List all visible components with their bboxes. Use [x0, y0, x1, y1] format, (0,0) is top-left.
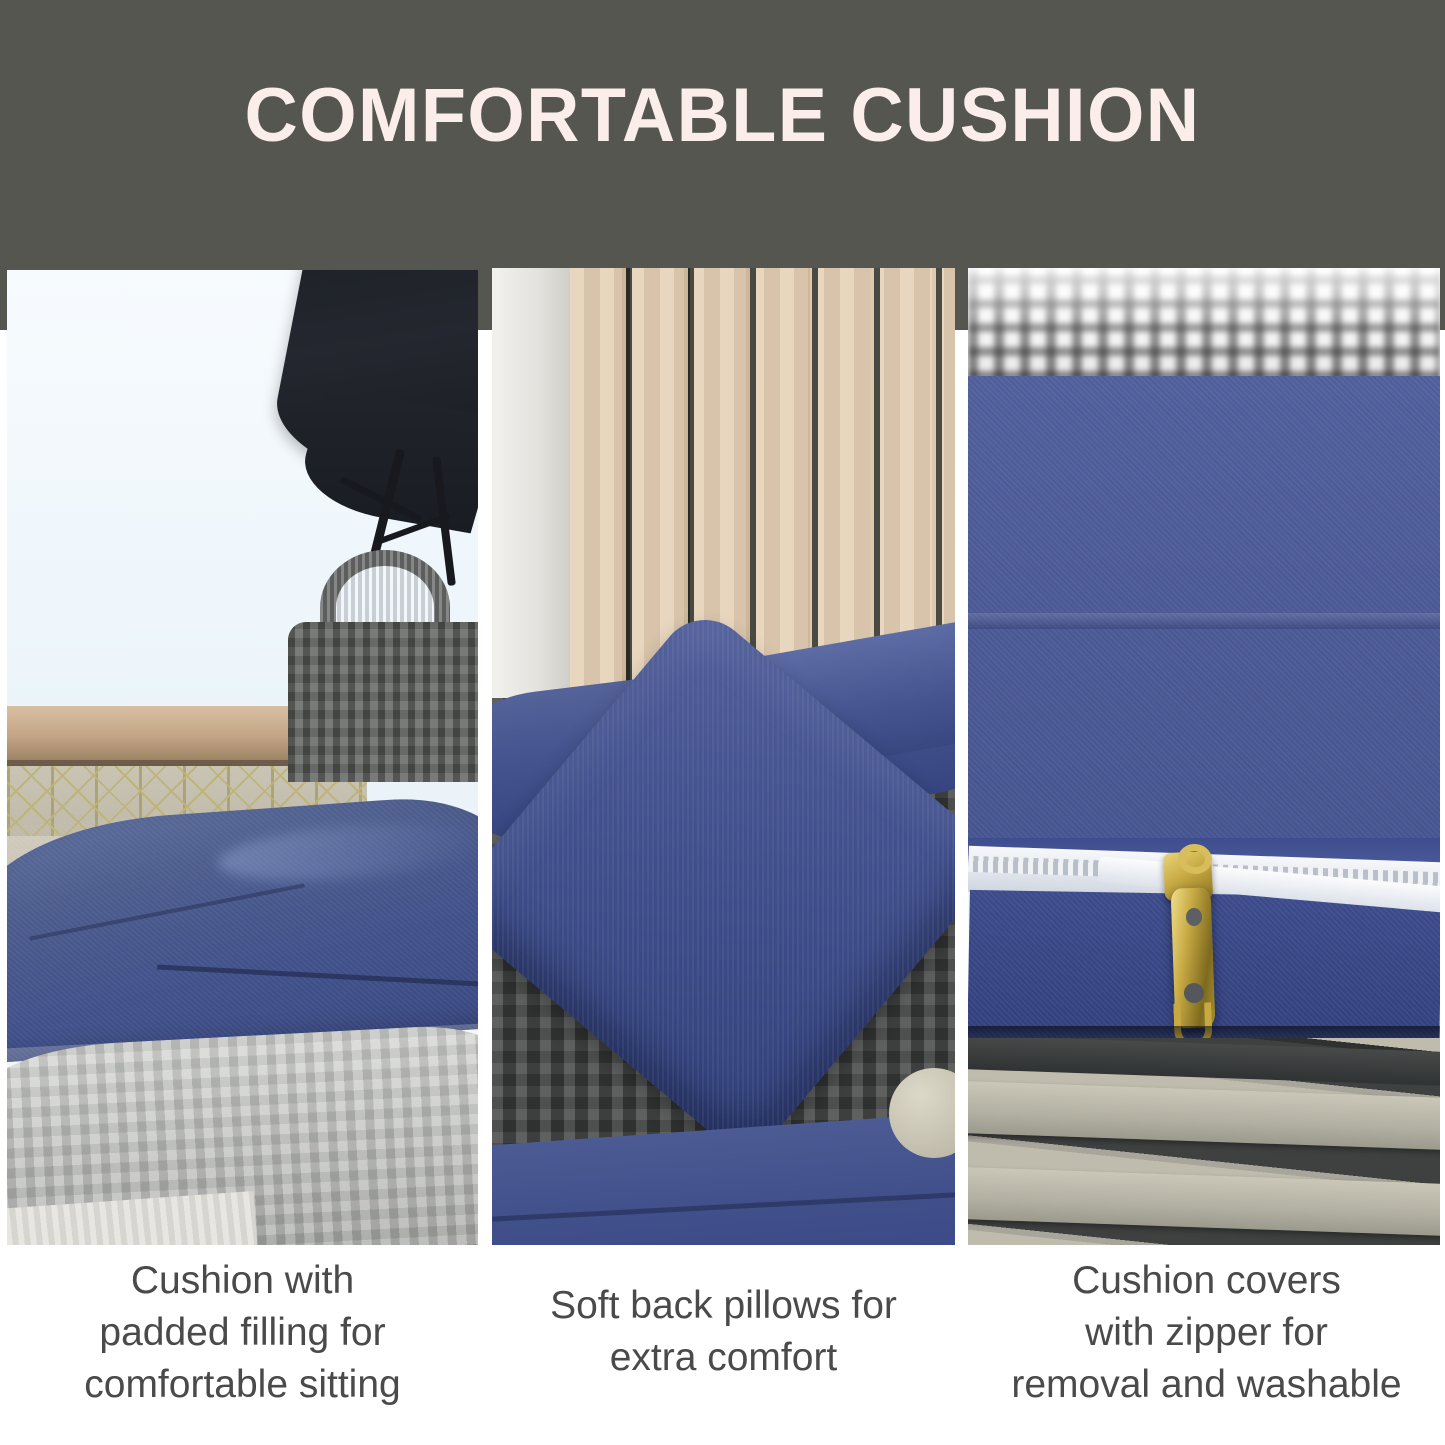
caption-zipper-covers: Cushion covers with zipper for removal a… — [968, 1255, 1445, 1411]
product-photo-pillow — [492, 268, 955, 1245]
navy-cover-fabric-upper — [968, 376, 1440, 846]
marketing-image-stage: COMFORTABLE CUSHION — [0, 0, 1445, 1445]
image-panel-row — [0, 0, 1445, 1250]
fabric-crease — [968, 613, 1440, 629]
weave-strand-light — [968, 1167, 1440, 1238]
plaid-fade-overlay — [968, 268, 1440, 380]
rattan-weave-base — [968, 1038, 1440, 1245]
caption-cushion-padding: Cushion with padded filling for comforta… — [7, 1255, 478, 1411]
product-photo-zipper — [968, 268, 1440, 1245]
weave-strand-dark — [968, 1038, 1440, 1087]
product-photo-cushion — [7, 270, 478, 1245]
weave-strand-light — [968, 1081, 1440, 1152]
rattan-armrest — [288, 622, 478, 782]
caption-back-pillows: Soft back pillows for extra comfort — [492, 1280, 955, 1384]
caption-row: Cushion with padded filling for comforta… — [0, 1250, 1445, 1445]
zipper-tab-hole-top — [1186, 908, 1202, 926]
zipper-tab-hole-bottom — [1184, 983, 1204, 1003]
